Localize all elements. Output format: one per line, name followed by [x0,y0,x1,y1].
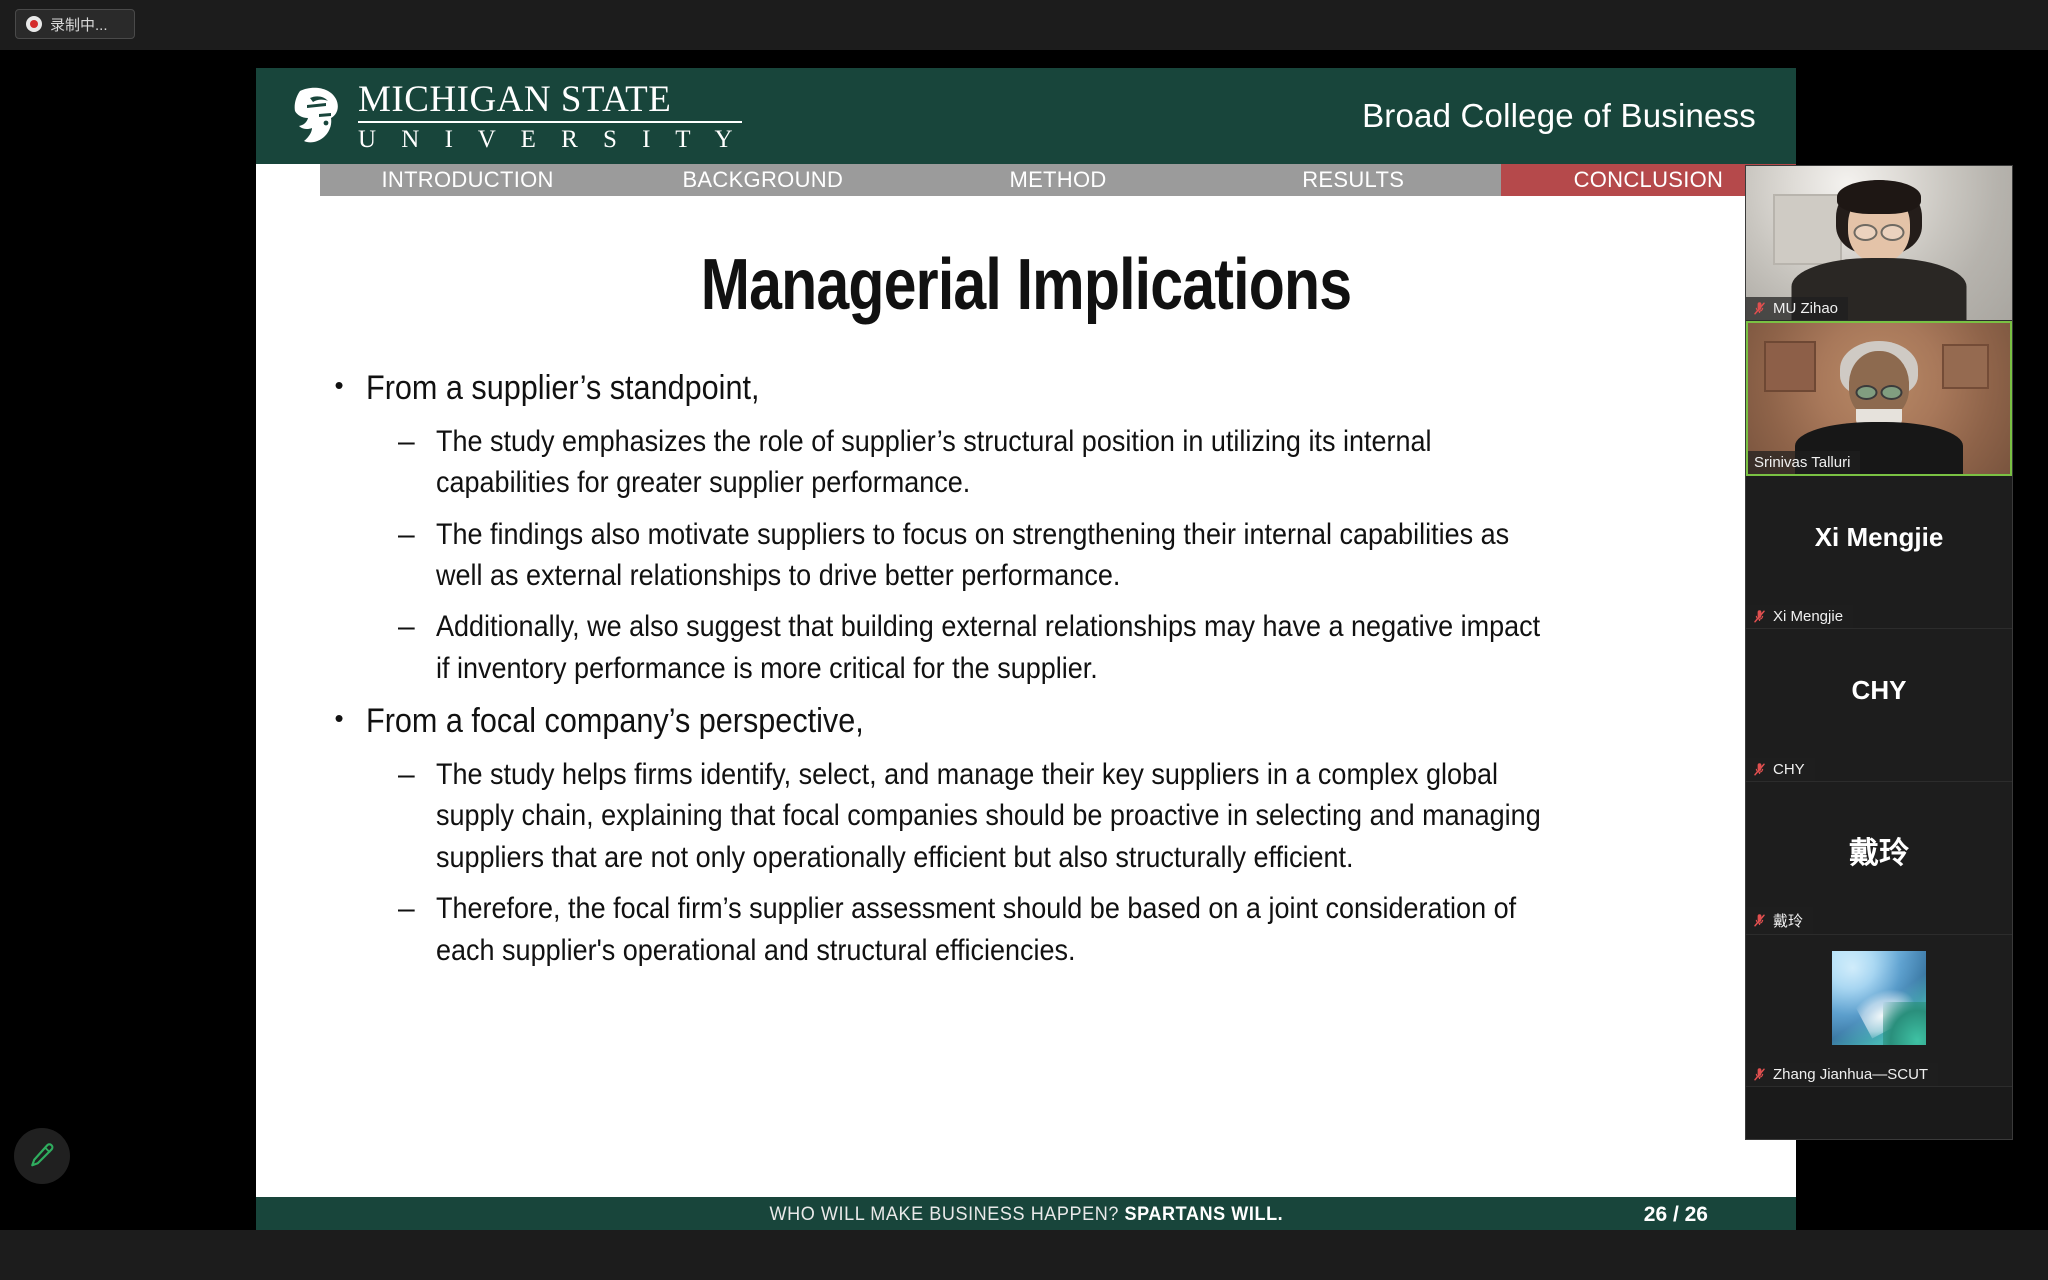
window-bottom-bar [0,1230,2048,1280]
slide-section-nav[interactable]: INTRODUCTION BACKGROUND METHOD RESULTS C… [320,164,1796,196]
pen-icon [27,1141,57,1171]
slide-footer: WHO WILL MAKE BUSINESS HAPPEN? SPARTANS … [256,1197,1796,1233]
recording-label: 录制中... [50,14,108,35]
mic-muted-icon [1752,913,1767,928]
bullet-level2: – The findings also motivate suppliers t… [398,514,1720,597]
slide-body: Managerial Implications • From a supplie… [256,196,1796,1197]
nav-tab-introduction[interactable]: INTRODUCTION [320,164,615,196]
participant-tile-zhang-jianhua-scut[interactable]: Zhang Jianhua—SCUT [1746,935,2012,1087]
participant-name: MU Zihao [1773,300,1838,317]
window-top-bar: 录制中... [0,0,2048,50]
slide-title: Managerial Implications [395,244,1658,326]
participant-tile-xi-mengjie[interactable]: Xi Mengjie Xi Mengjie [1746,476,2012,629]
participant-name: 戴玲 [1773,910,1803,931]
participant-tile-srinivas-talluri[interactable]: Srinivas Talluri [1746,321,2012,476]
slide-content: • From a supplier’s standpoint, – The st… [332,366,1720,971]
bullet-level1-text: From a focal company’s perspective, [366,699,864,744]
slide-header: MICHIGAN STATE U N I V E R S I T Y Broad… [256,68,1796,164]
bullet-level1: • From a supplier’s standpoint, [332,366,1720,411]
bullet-level1-text: From a supplier’s standpoint, [366,366,759,411]
participant-name-badge: Xi Mengjie [1746,605,1853,628]
bullet-dot-icon: • [332,366,346,411]
dash-icon: – [398,421,418,504]
tagline-bold: SPARTANS WILL. [1124,1204,1283,1225]
msu-wordmark: MICHIGAN STATE U N I V E R S I T Y [358,81,742,152]
participant-name-badge: Srinivas Talluri [1748,451,1860,474]
mic-muted-icon [1752,301,1767,316]
college-name: Broad College of Business [1362,97,1764,135]
participant-name-badge: Zhang Jianhua—SCUT [1746,1063,1938,1086]
university-name-bottom: U N I V E R S I T Y [358,127,742,152]
slide-tagline: WHO WILL MAKE BUSINESS HAPPEN? SPARTANS … [769,1204,1283,1226]
university-name-top: MICHIGAN STATE [358,81,742,118]
msu-brand: MICHIGAN STATE U N I V E R S I T Y [286,81,742,152]
mic-muted-icon [1752,762,1767,777]
bullet-level2-text: Additionally, we also suggest that build… [436,606,1543,689]
recording-indicator[interactable]: 录制中... [15,9,135,39]
participant-tile-mu-zihao[interactable]: MU Zihao [1746,166,2012,321]
nav-tab-results[interactable]: RESULTS [1206,164,1501,196]
participant-name: Srinivas Talluri [1754,454,1850,471]
bullet-level2-text: The study emphasizes the role of supplie… [436,421,1543,504]
dash-icon: – [398,754,418,878]
dash-icon: – [398,888,418,971]
participant-name-badge: CHY [1746,758,1815,781]
nav-tab-background[interactable]: BACKGROUND [615,164,910,196]
participant-display-name: 戴玲 [1746,828,2012,872]
bullet-level2: – Therefore, the focal firm’s supplier a… [398,888,1720,971]
bullet-dot-icon: • [332,699,346,744]
bullet-level2-text: The study helps firms identify, select, … [436,754,1543,878]
mic-muted-icon [1752,609,1767,624]
avatar [1832,951,1926,1045]
participant-display-name: CHY [1746,675,2012,706]
bullet-level1: • From a focal company’s perspective, [332,699,1720,744]
slide-page-number: 26 / 26 [1644,1203,1708,1227]
mic-muted-icon [1752,1067,1767,1082]
presentation-stage: MICHIGAN STATE U N I V E R S I T Y Broad… [0,50,2048,1230]
participant-name: CHY [1773,761,1805,778]
bullet-level2: – The study emphasizes the role of suppl… [398,421,1720,504]
participant-tile-chy[interactable]: CHY CHY [1746,629,2012,782]
tagline-light: WHO WILL MAKE BUSINESS HAPPEN? [769,1204,1124,1225]
bullet-level2-text: The findings also motivate suppliers to … [436,514,1543,597]
participant-name-badge: MU Zihao [1746,297,1848,320]
record-dot-icon [26,16,42,32]
spartan-helmet-icon [286,85,344,147]
participant-name: Zhang Jianhua—SCUT [1773,1066,1928,1083]
participant-name: Xi Mengjie [1773,608,1843,625]
participant-display-name: Xi Mengjie [1746,522,2012,553]
annotate-button[interactable] [14,1128,70,1184]
bullet-level2: – Additionally, we also suggest that bui… [398,606,1720,689]
nav-tab-method[interactable]: METHOD [910,164,1205,196]
participant-name-badge: 戴玲 [1746,907,1813,934]
shared-slide[interactable]: MICHIGAN STATE U N I V E R S I T Y Broad… [256,68,1796,1233]
participant-tile-dai-ling[interactable]: 戴玲 戴玲 [1746,782,2012,935]
dash-icon: – [398,606,418,689]
bullet-level2-text: Therefore, the focal firm’s supplier ass… [436,888,1543,971]
dash-icon: – [398,514,418,597]
bullet-level2: – The study helps firms identify, select… [398,754,1720,878]
participants-filmstrip[interactable]: MU Zihao Srinivas Ta [1745,165,2013,1140]
